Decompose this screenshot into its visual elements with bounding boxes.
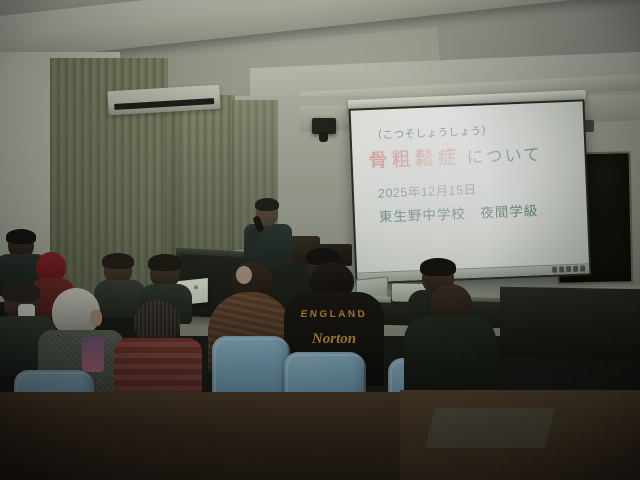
- jacket-norton-text: Norton: [296, 328, 372, 350]
- side-table: [500, 287, 640, 359]
- attendee-ear: [90, 310, 102, 326]
- tray-icon: [566, 266, 571, 272]
- attendee-hair: [420, 258, 456, 276]
- floor-highlight: [425, 408, 555, 448]
- slide-date: 2025年12月15日: [378, 175, 577, 202]
- slide-title: 骨粗鬆症 について: [368, 138, 575, 173]
- slide-school: 東生野中学校 夜間学級: [378, 198, 577, 226]
- tray-icon: [559, 266, 564, 272]
- slide-content: （こつそしょうしょう） 骨粗鬆症 について 2025年12月15日 東生野中学校…: [351, 101, 590, 282]
- attendee-face: [236, 266, 252, 284]
- jacket-brand-area: Norton: [296, 328, 372, 350]
- slide-title-kanji: 骨粗鬆症: [368, 142, 461, 173]
- presenter-hair: [255, 198, 279, 211]
- tray-icon: [580, 265, 585, 271]
- slide-title-suffix: について: [466, 140, 542, 168]
- attendee-hair: [148, 254, 182, 271]
- attendee-hair: [6, 229, 36, 244]
- attendee-hair: [2, 282, 40, 302]
- projection-screen: （こつそしょうしょう） 骨粗鬆症 について 2025年12月15日 東生野中学校…: [349, 99, 592, 284]
- attendee-scarf: [82, 336, 104, 372]
- air-conditioner-vent: [114, 98, 214, 110]
- list-item: [404, 284, 496, 400]
- tray-icon: [573, 266, 578, 272]
- projection-screen-surface: （こつそしょうしょう） 骨粗鬆症 について 2025年12月15日 東生野中学校…: [351, 101, 590, 282]
- taskbar-tray-icons: [552, 265, 585, 272]
- attendee-hair: [102, 253, 134, 269]
- handout-mark: [194, 285, 198, 289]
- jacket-arc-text-area: ENGLAND: [298, 304, 370, 326]
- presenter: [240, 200, 296, 266]
- wall-speaker-mount: [319, 132, 328, 142]
- lecture-room-photo: （こつそしょうしょう） 骨粗鬆症 について 2025年12月15日 東生野中学校…: [0, 0, 640, 480]
- jacket-england-text: ENGLAND: [298, 305, 370, 326]
- tray-icon: [552, 267, 557, 273]
